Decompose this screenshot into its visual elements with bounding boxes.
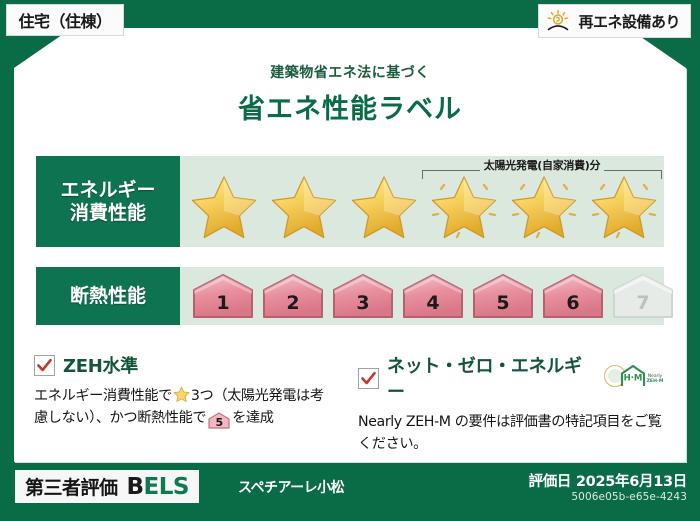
energy-performance-label: エネルギー 消費性能	[36, 156, 180, 247]
house-badge-value: 5	[496, 292, 509, 319]
criteria-zeh-body: エネルギー消費性能で3つ（太陽光発電は考慮しない）、かつ断熱性能で5を達成	[34, 385, 334, 429]
energy-stars-area: 太陽光発電(自家消費)分	[180, 156, 664, 247]
check-icon	[36, 357, 53, 374]
zeh-m-logo-icon: H·M Nearly ZEH-M	[602, 363, 668, 393]
heading-subtitle: 建築物省エネ法に基づく	[0, 62, 700, 82]
house-badge: 7	[611, 273, 675, 319]
insulation-level-5: 5	[468, 273, 538, 319]
evaluation-date: 評価日 2025年6月13日	[529, 470, 687, 491]
energy-performance-band: エネルギー 消費性能 太陽光発電(自家消費)分	[36, 156, 664, 247]
house-badge: 2	[261, 273, 325, 319]
check-icon	[360, 370, 377, 387]
house-badge-value: 2	[286, 292, 299, 319]
insulation-level-7: 7	[608, 273, 678, 319]
energy-label-line1: エネルギー	[60, 179, 155, 201]
bels-en-label: BELS	[127, 474, 189, 500]
category-tag: 住宅（住棟）	[6, 4, 124, 36]
insulation-performance-label: 断熱性能	[36, 267, 180, 325]
insulation-level-2: 2	[258, 273, 328, 319]
evaluation-id: 5006e05b-e65e-4243	[571, 491, 687, 503]
criteria-zeh-title: ZEH水準	[63, 352, 138, 378]
star-5	[504, 171, 584, 241]
insulation-level-6: 6	[538, 273, 608, 319]
insulation-levels-area: 1 2	[180, 267, 664, 325]
building-name: スペチアーレ小松	[238, 477, 344, 497]
page-heading: 建築物省エネ法に基づく 省エネ性能ラベル	[0, 62, 700, 126]
bels-letter-b: B	[127, 474, 144, 500]
bels-ja-label: 第三者評価	[25, 473, 118, 500]
inline-star-icon	[173, 386, 190, 403]
category-tag-label: 住宅（住棟）	[18, 8, 111, 32]
star-6	[584, 171, 664, 241]
sun-icon	[545, 9, 571, 33]
inline-house-badge: 5	[208, 412, 230, 429]
renewable-energy-badge: 再エネ設備あり	[538, 4, 691, 38]
zeh-text-part3: を達成	[232, 410, 273, 426]
zeh-checkbox[interactable]	[34, 355, 55, 376]
insulation-level-4: 4	[398, 273, 468, 319]
bels-badge: 第三者評価 BELS	[15, 470, 199, 503]
net-zero-checkbox[interactable]	[358, 368, 379, 389]
star-1	[184, 171, 264, 241]
criteria-zeh: ZEH水準 エネルギー消費性能で3つ（太陽光発電は考慮しない）、かつ断熱性能で5…	[34, 352, 334, 429]
house-badge-value: 4	[426, 292, 439, 319]
page-title: 省エネ性能ラベル	[0, 87, 700, 126]
solar-bracket	[422, 170, 662, 179]
house-badge: 6	[541, 273, 605, 319]
star-2	[264, 171, 344, 241]
footer: 第三者評価 BELS スペチアーレ小松 評価日 2025年6月13日 5006e…	[0, 462, 700, 521]
zeh-star-count: 3つ	[191, 388, 213, 404]
criteria-net-zero-title: ネット・ゼロ・エネルギー	[387, 352, 588, 404]
house-badge: 1	[191, 273, 255, 319]
criteria-net-zero-header: ネット・ゼロ・エネルギー H·M Nearly ZEH-M	[358, 352, 668, 404]
house-badge-value: 1	[216, 292, 229, 319]
insulation-level-1: 1	[188, 273, 258, 319]
criteria-net-zero-body: Nearly ZEH-M の要件は評価書の特記項目をご覧ください。	[358, 411, 668, 455]
house-badge: 5	[471, 273, 535, 319]
criteria-net-zero: ネット・ゼロ・エネルギー H·M Nearly ZEH-M Nearly ZEH…	[358, 352, 668, 455]
renewable-badge-label: 再エネ設備あり	[578, 11, 680, 32]
insulation-level-row: 1 2	[180, 267, 664, 325]
star-4	[424, 171, 504, 241]
bels-letters-els: ELS	[144, 474, 189, 500]
insulation-label-text: 断熱性能	[70, 285, 146, 307]
house-badge-value: 3	[356, 292, 369, 319]
inline-house-value: 5	[208, 412, 230, 433]
house-badge: 4	[401, 273, 465, 319]
house-badge-value: 7	[636, 292, 649, 319]
insulation-performance-band: 断熱性能 1	[36, 267, 664, 325]
svg-text:ZEH-M: ZEH-M	[647, 378, 664, 384]
house-badge: 3	[331, 273, 395, 319]
insulation-level-3: 3	[328, 273, 398, 319]
zeh-text-part1: エネルギー消費性能で	[34, 388, 172, 404]
energy-label-line2: 消費性能	[70, 202, 146, 224]
star-3	[344, 171, 424, 241]
house-badge-value: 6	[566, 292, 579, 319]
criteria-zeh-header: ZEH水準	[34, 352, 334, 378]
svg-text:H·M: H·M	[624, 374, 643, 384]
